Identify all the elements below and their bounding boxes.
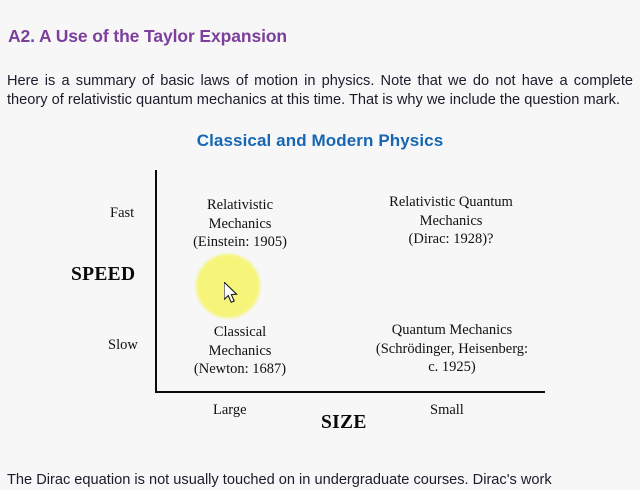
y-axis-label-slow: Slow — [108, 337, 138, 354]
x-axis-label-small: Small — [430, 402, 464, 419]
x-axis-label-large: Large — [213, 402, 247, 419]
page-title: A2. A Use of the Taylor Expansion — [8, 26, 287, 47]
mouse-cursor-icon — [224, 282, 240, 306]
quadrant-quantum-mechanics: Quantum Mechanics (Schrödinger, Heisenbe… — [352, 321, 552, 377]
y-axis-label-fast: Fast — [110, 205, 134, 222]
quadrant-relativistic-mechanics: Relativistic Mechanics (Einstein: 1905) — [165, 196, 315, 252]
quadrant-relativistic-quantum-mechanics: Relativistic Quantum Mechanics (Dirac: 1… — [355, 193, 547, 249]
intro-paragraph: Here is a summary of basic laws of motio… — [7, 72, 633, 110]
y-axis-title-speed: SPEED — [71, 264, 135, 286]
x-axis-line — [155, 391, 545, 393]
quadrant-classical-mechanics: Classical Mechanics (Newton: 1687) — [165, 323, 315, 379]
y-axis-line — [155, 170, 157, 393]
outro-paragraph: The Dirac equation is not usually touche… — [7, 471, 639, 490]
diagram-title: Classical and Modern Physics — [0, 131, 640, 151]
x-axis-title-size: SIZE — [321, 412, 367, 434]
slide-page: A2. A Use of the Taylor Expansion Here i… — [0, 0, 640, 480]
